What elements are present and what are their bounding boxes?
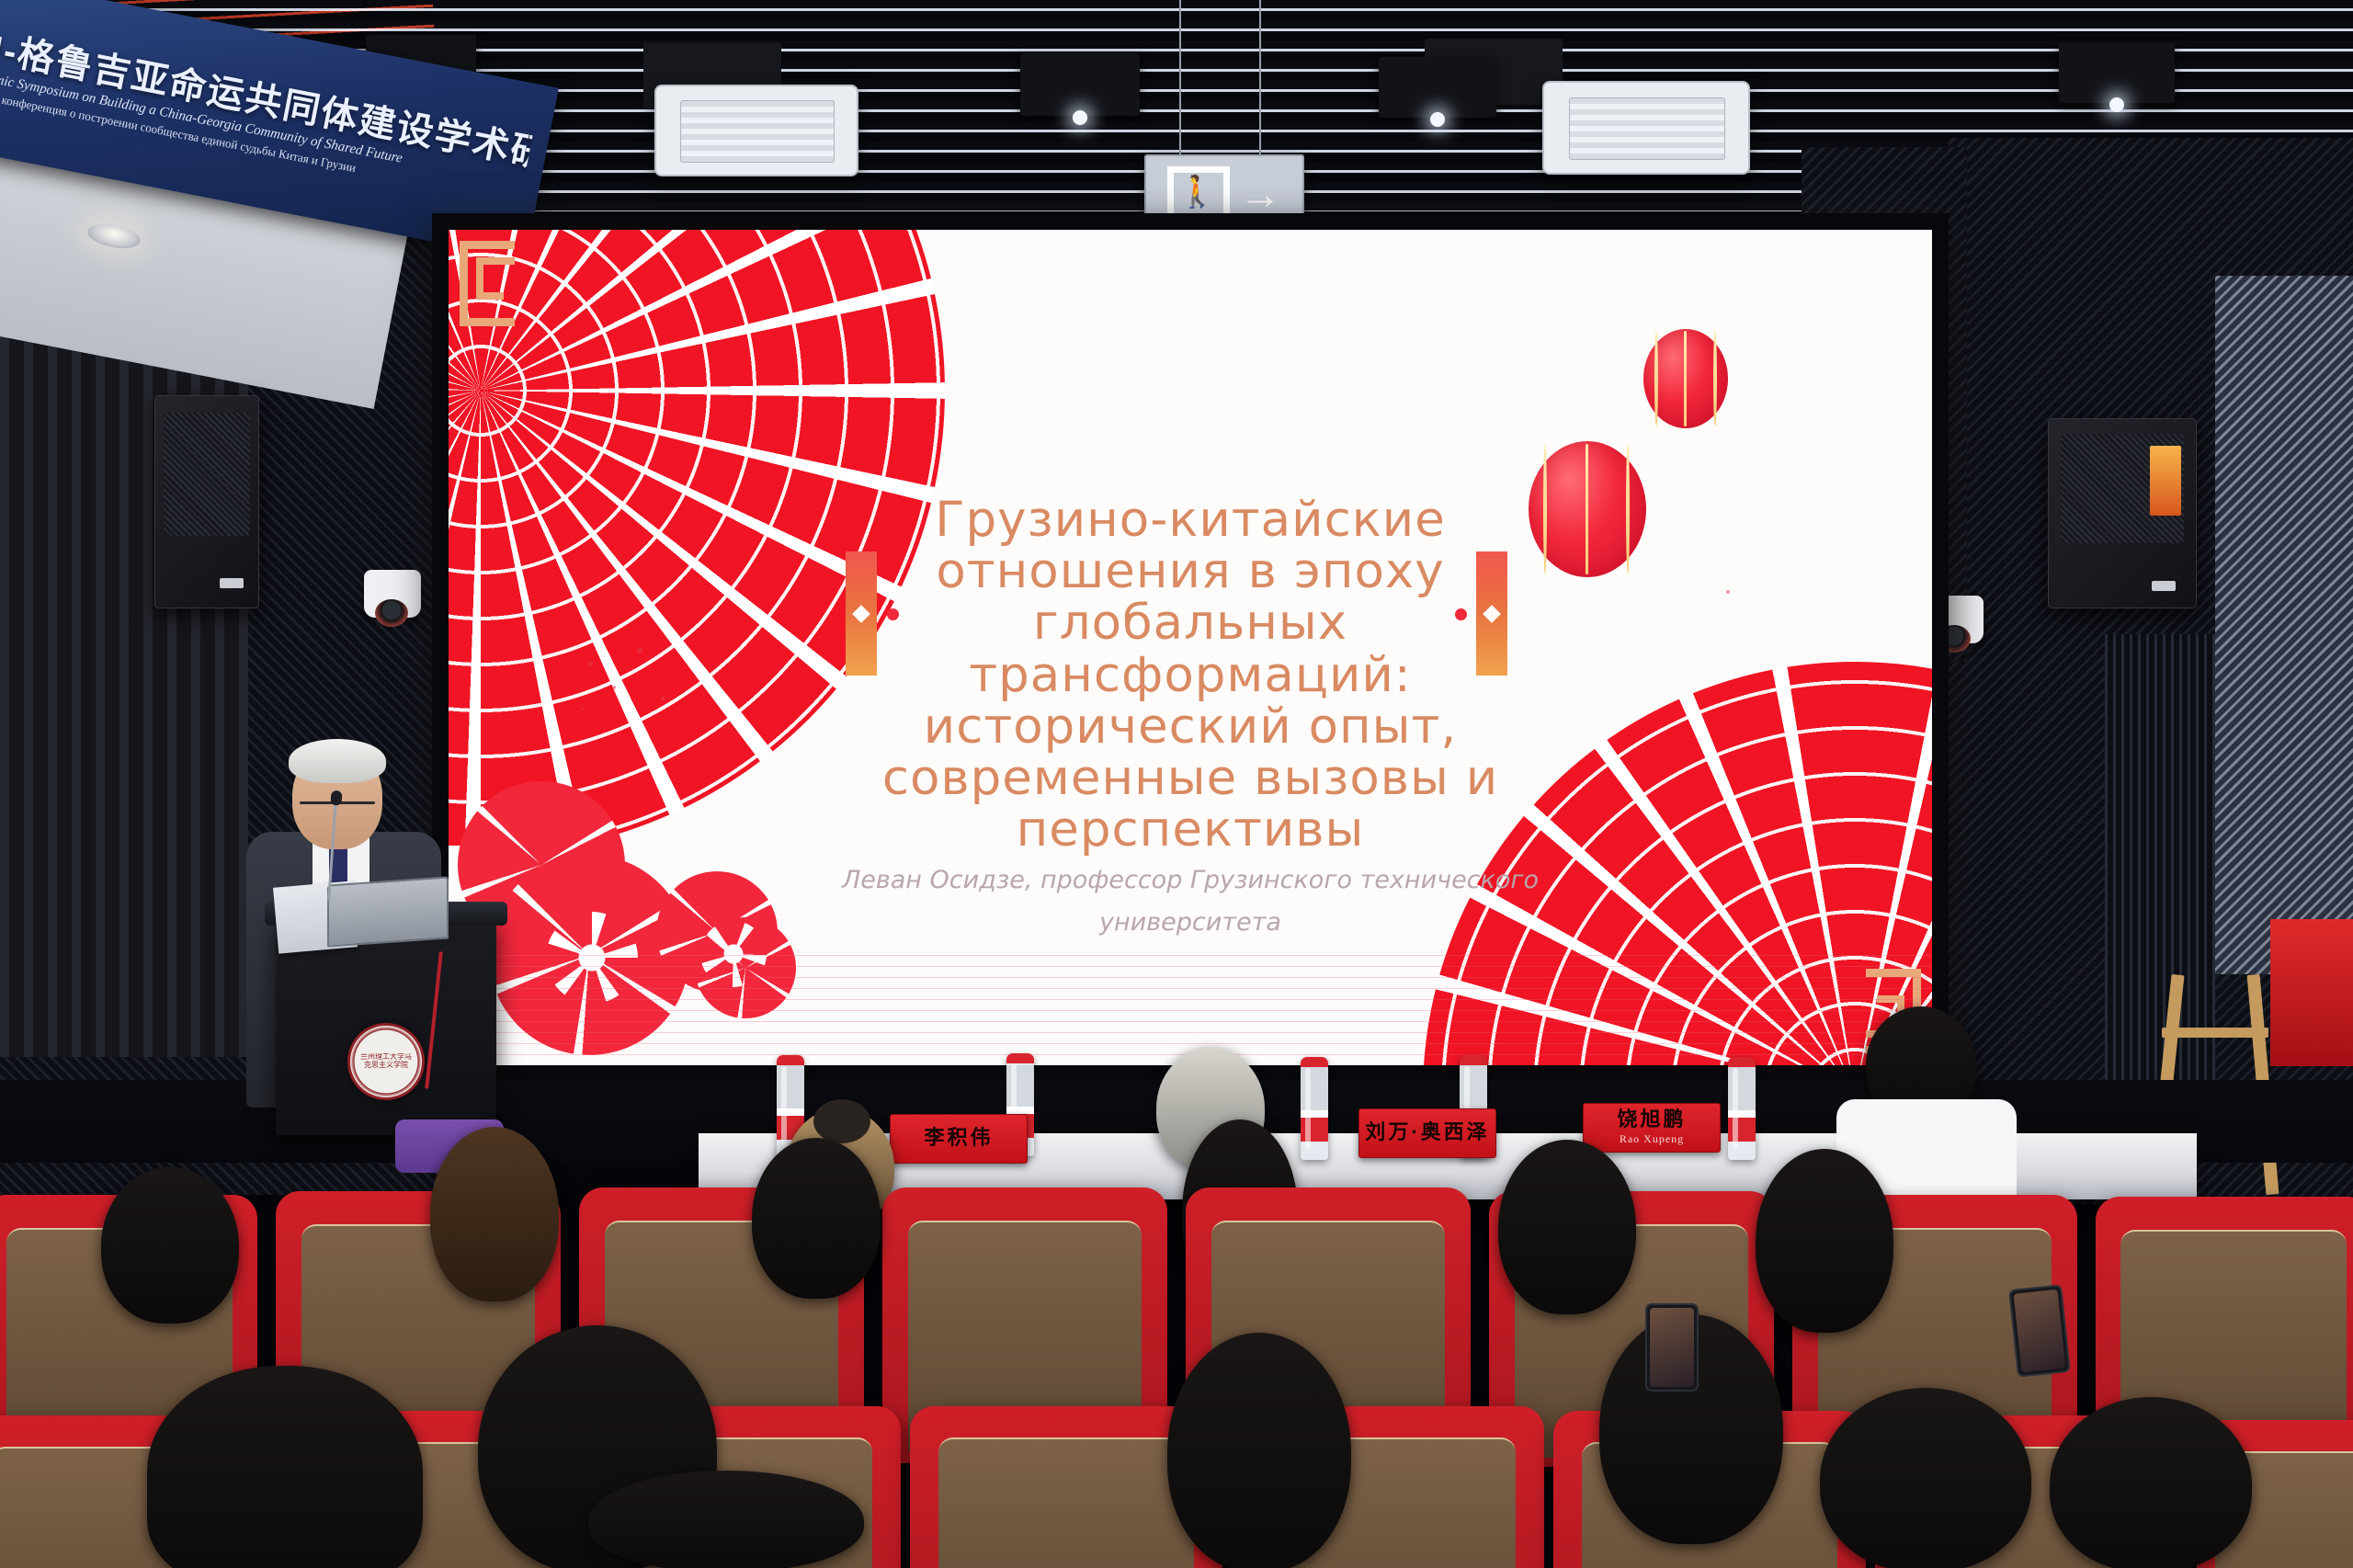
- ac-cassette-unit-left: [654, 85, 858, 176]
- presenter-hair: [289, 739, 386, 783]
- speckle-2: [612, 686, 616, 689]
- slide-subtitle: Леван Осидзе, профессор Грузинского техн…: [813, 859, 1567, 944]
- audience-head-front-6: [1820, 1388, 2031, 1568]
- lantern-large: [1529, 441, 1646, 577]
- arrow-right-icon: →: [1239, 173, 1281, 215]
- water-bottle-3: [1301, 1057, 1328, 1160]
- exit-sign-wire-left: [1179, 0, 1181, 154]
- speaker-badge-right: [2152, 581, 2176, 591]
- audience-head-front-4: [1167, 1333, 1351, 1568]
- led-screen: Грузино-китайские отношения в эпоху глоб…: [432, 213, 1949, 1082]
- nameplate-3: 饶旭鹏 Rao Xupeng: [1583, 1103, 1721, 1153]
- presentation-slide: Грузино-китайские отношения в эпоху глоб…: [449, 230, 1932, 1065]
- acoustic-panel-right-vert: [2105, 634, 2215, 1094]
- meander-key-top-left: [454, 235, 533, 346]
- audience-head-front-3: [588, 1471, 864, 1568]
- pa-speaker-left: [154, 395, 259, 608]
- speckle-6: [1726, 590, 1730, 594]
- attendee-hair-bun: [813, 1099, 870, 1143]
- ac-cassette-unit-right: [1542, 81, 1750, 175]
- slide-bottom-ruled-lines: [449, 955, 1932, 1065]
- audience-head-2: [430, 1127, 559, 1301]
- slide-title: Грузино-китайские отношения в эпоху глоб…: [850, 494, 1530, 856]
- exit-sign-wire-right: [1259, 0, 1261, 154]
- speckle-1: [588, 662, 593, 666]
- red-poster-right: [2270, 919, 2353, 1066]
- university-emblem: 兰州理工大学马克思主义学院: [347, 1023, 425, 1100]
- stage-spotlight-2: [1379, 57, 1496, 118]
- phone-recording-1[interactable]: [1645, 1303, 1699, 1392]
- acoustic-panel-right-lit: [2215, 276, 2353, 974]
- lantern-small: [1643, 329, 1728, 428]
- nameplate-3-name-cn: 饶旭鹏: [1617, 1109, 1686, 1130]
- nameplate-2: 刘万·奥西泽: [1358, 1108, 1496, 1158]
- audience-head-4: [1498, 1140, 1636, 1314]
- nameplate-1: 李积伟: [890, 1114, 1028, 1164]
- water-bottle-5: [1728, 1057, 1756, 1160]
- easel-crossbar: [2162, 1028, 2268, 1038]
- audience-head-front-1: [147, 1366, 423, 1568]
- ptz-camera-left: [364, 570, 421, 618]
- nameplate-1-name-cn: 李积伟: [924, 1128, 993, 1148]
- speaker-badge-left: [220, 578, 244, 588]
- speaker-amber-label: [2150, 446, 2181, 516]
- stage-spotlight-4: [2059, 42, 2175, 103]
- stage-spotlight-1: [1020, 53, 1140, 116]
- podium-laptop: [327, 876, 449, 947]
- conference-hall-scene: → 中-格鲁吉亚命运共同体建设学术研讨会 Academic Symposium …: [0, 0, 2353, 1568]
- emblem-text: 兰州理工大学马克思主义学院: [360, 1053, 412, 1070]
- audience-head-3: [752, 1138, 881, 1299]
- speckle-4: [661, 697, 665, 700]
- audience-head-front-7: [2050, 1397, 2252, 1568]
- phone-recording-2[interactable]: [2008, 1284, 2071, 1378]
- nameplate-2-name-cn: 刘万·奥西泽: [1365, 1122, 1489, 1142]
- speckle-3: [637, 648, 642, 653]
- audience-head-1: [101, 1167, 239, 1324]
- audience-head-5: [1756, 1149, 1893, 1333]
- pa-speaker-right: [2048, 418, 2197, 608]
- nameplate-3-name-en: Rao Xupeng: [1620, 1132, 1684, 1146]
- speckle-5: [581, 708, 584, 710]
